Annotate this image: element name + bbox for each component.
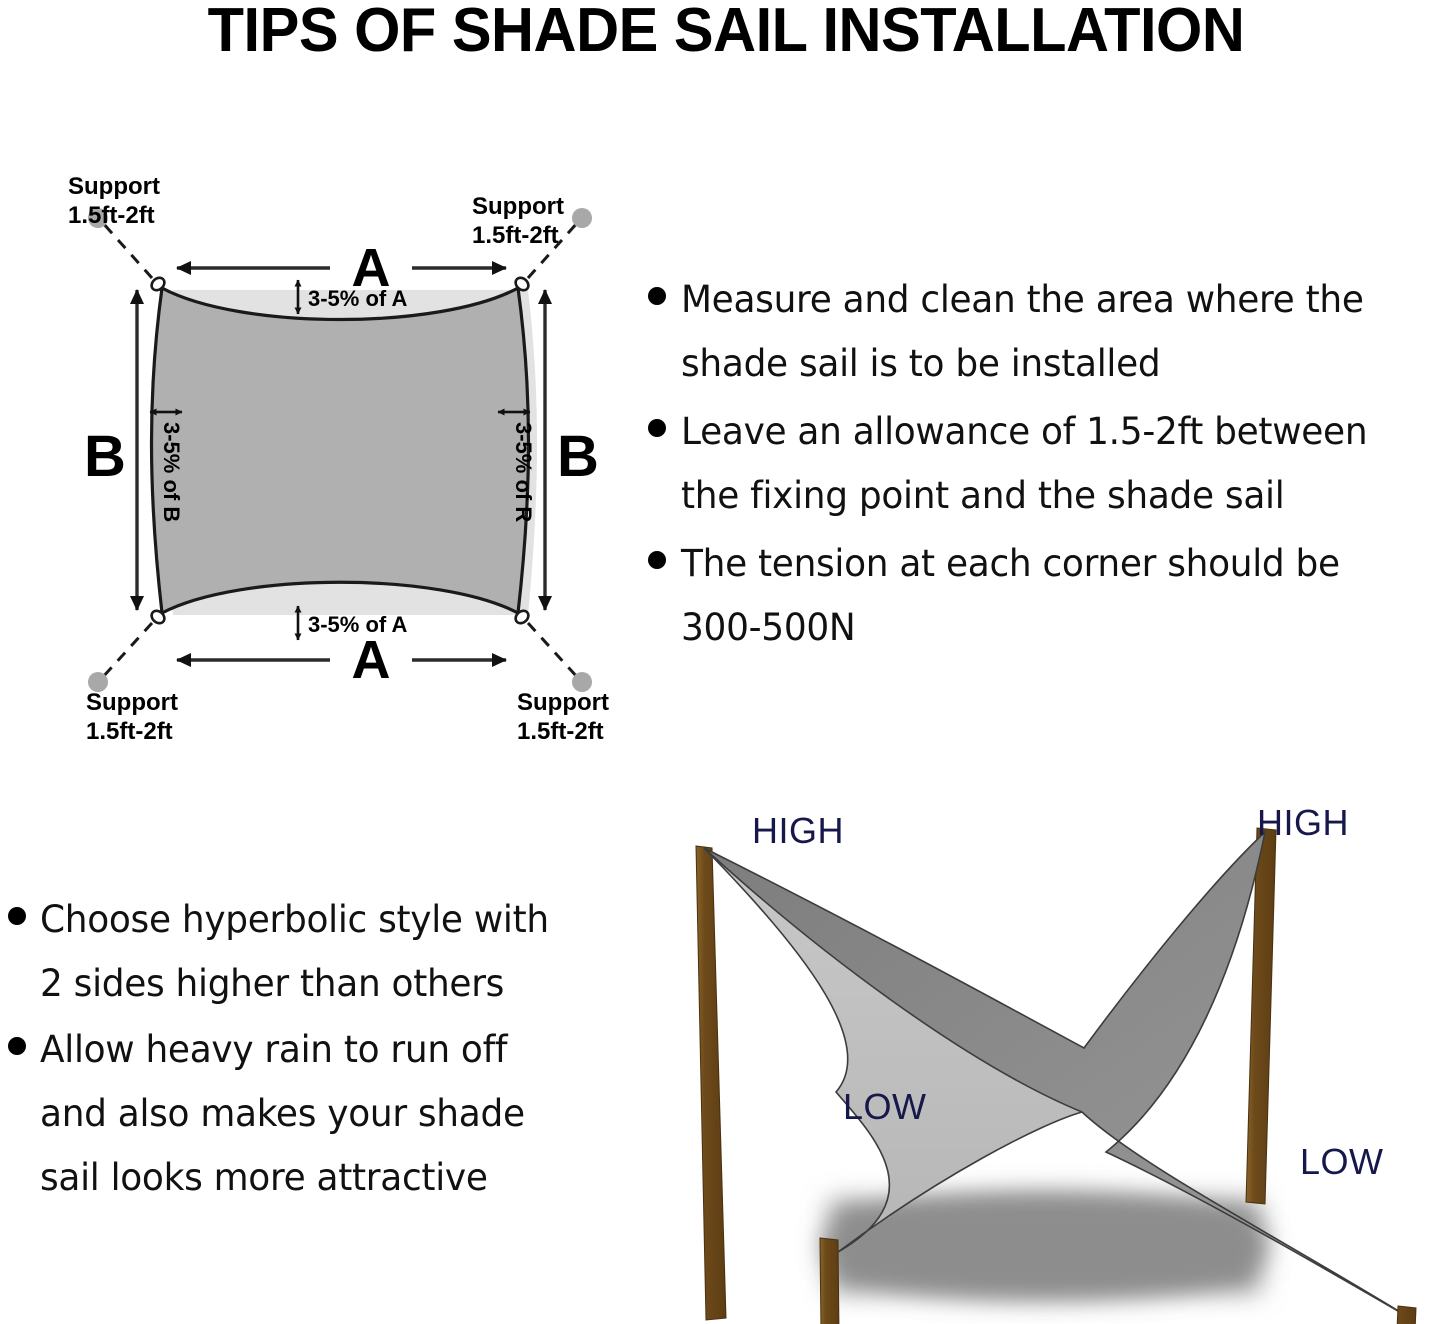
support-label-line2: 1.5ft-2ft (86, 717, 178, 746)
support-label-line1: Support (68, 172, 160, 201)
sail-shape (152, 288, 529, 613)
list-item: Choose hyperbolic style with 2 sides hig… (8, 888, 628, 1016)
bullet-dot-icon (648, 551, 666, 569)
support-label-line2: 1.5ft-2ft (472, 221, 564, 250)
support-label-top-right: Support 1.5ft-2ft (472, 192, 564, 250)
style-tip-line: Allow heavy rain to run off (40, 1028, 507, 1071)
label-low-left: LOW (843, 1086, 927, 1128)
support-label-line1: Support (86, 688, 178, 717)
style-tips-list: Choose hyperbolic style with 2 sides hig… (8, 888, 628, 1212)
bullet-dot-icon (648, 419, 666, 437)
label-high-left: HIGH (752, 810, 844, 852)
tip-line: the fixing point and the shade sail (681, 474, 1284, 517)
tether-top-left (102, 222, 152, 278)
support-label-line2: 1.5ft-2ft (68, 201, 160, 230)
style-tip-line: 2 sides higher than others (40, 962, 504, 1005)
tether-bottom-left (102, 623, 152, 678)
list-item: The tension at each corner should be 300… (648, 532, 1452, 660)
tether-bottom-right (528, 623, 578, 678)
style-tip-line: sail looks more attractive (40, 1156, 488, 1199)
support-label-top-left: Support 1.5ft-2ft (68, 172, 160, 230)
support-label-line1: Support (517, 688, 609, 717)
tip-line: 300-500N (681, 606, 855, 649)
pole-high-left (696, 846, 726, 1320)
support-dot-top-right (572, 208, 592, 228)
support-label-line2: 1.5ft-2ft (517, 717, 609, 746)
bullet-dot-icon (8, 907, 26, 925)
tip-line: Leave an allowance of 1.5-2ft between (681, 410, 1367, 453)
sag-top-label: 3-5% of A (308, 286, 408, 311)
list-item: Measure and clean the area where the sha… (648, 268, 1452, 396)
support-label-bottom-left: Support 1.5ft-2ft (86, 688, 178, 746)
bullet-dot-icon (648, 287, 666, 305)
style-tip-line: and also makes your shade (40, 1092, 525, 1135)
tip-line: The tension at each corner should be (681, 542, 1340, 585)
label-low-right: LOW (1300, 1141, 1384, 1183)
pole-low-left (820, 1238, 840, 1324)
sag-right-label: 3-5% of R (511, 422, 536, 522)
list-item: Leave an allowance of 1.5-2ft between th… (648, 400, 1452, 528)
bullet-dot-icon (8, 1037, 26, 1055)
page-title: TIPS OF SHADE SAIL INSTALLATION (29, 0, 1423, 62)
list-item: Allow heavy rain to run off and also mak… (8, 1018, 628, 1210)
support-label-line1: Support (472, 192, 564, 221)
dim-b-left-label: B (84, 424, 126, 489)
style-tip-line: Choose hyperbolic style with (40, 898, 549, 941)
support-label-bottom-right: Support 1.5ft-2ft (517, 688, 609, 746)
dim-b-right-label: B (557, 424, 599, 489)
sag-bottom-label: 3-5% of A (308, 612, 408, 637)
tip-line: Measure and clean the area where the (681, 278, 1364, 321)
label-high-right: HIGH (1257, 802, 1349, 844)
sail-measurement-diagram: A A B B 3-5% of A 3-5% of A 3-5% of B 3-… (40, 160, 640, 740)
dim-a-bottom-label: A (352, 630, 391, 690)
sag-left-label: 3-5% of B (159, 422, 184, 522)
hyperbolic-sail-diagram: HIGH HIGH LOW LOW (640, 786, 1452, 1324)
tip-line: shade sail is to be installed (681, 342, 1160, 385)
ground-shadow-body (830, 1201, 1260, 1291)
installation-tips-list: Measure and clean the area where the sha… (648, 268, 1452, 664)
